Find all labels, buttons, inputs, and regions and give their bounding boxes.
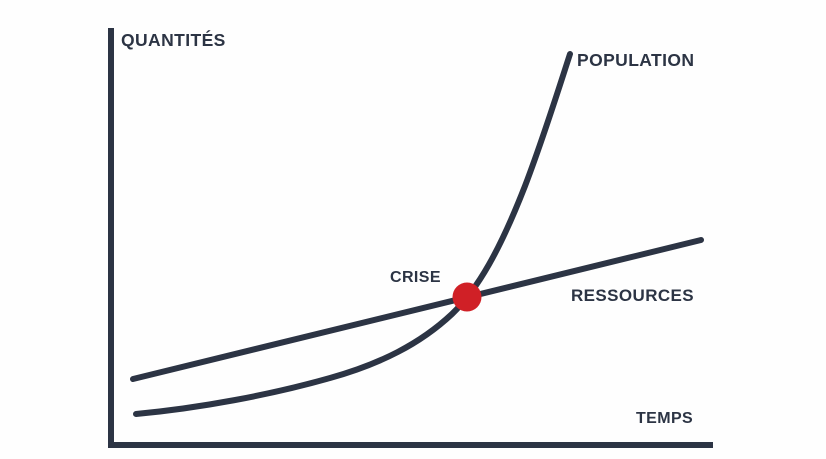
chart-svg — [0, 0, 826, 459]
population-label: POPULATION — [577, 52, 694, 70]
ressources-label: RESSOURCES — [571, 287, 694, 304]
ressources-line — [133, 240, 701, 379]
crise-marker — [453, 283, 482, 312]
y-axis-label: QUANTITÉS — [121, 32, 226, 50]
crise-label: CRISE — [390, 270, 441, 286]
figure-canvas: QUANTITÉS POPULATION RESSOURCES CRISE TE… — [0, 0, 826, 459]
x-axis-label: TEMPS — [636, 411, 693, 427]
